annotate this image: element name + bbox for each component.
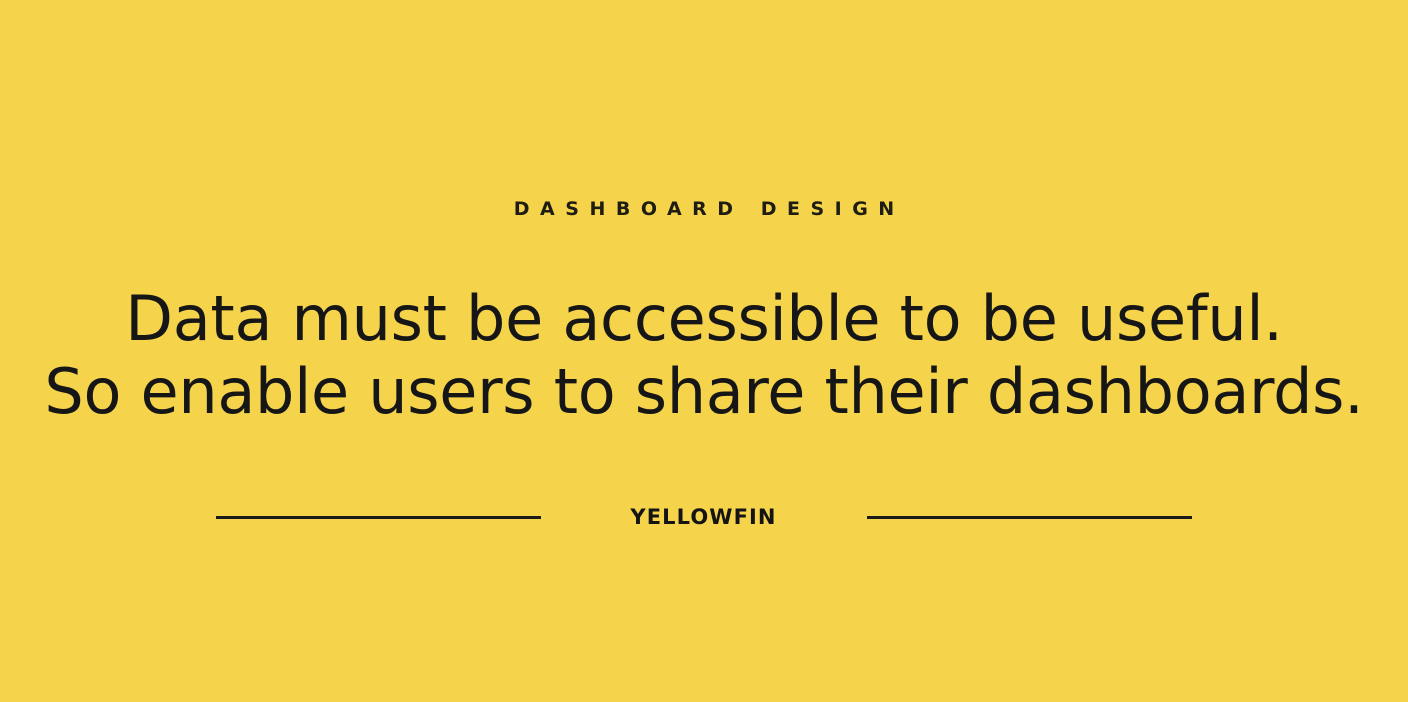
headline: Data must be accessible to be useful. So… <box>0 282 1408 428</box>
headline-line-1: Data must be accessible to be useful. <box>0 282 1408 355</box>
quote-card: DASHBOARD DESIGN Data must be accessible… <box>0 0 1408 702</box>
footer: YELLOWFIN <box>0 503 1408 531</box>
brand-wordmark: YELLOWFIN <box>630 503 776 531</box>
eyebrow-label: DASHBOARD DESIGN <box>0 197 1408 221</box>
divider-rule-right <box>867 516 1192 519</box>
divider-rule-left <box>216 516 541 519</box>
headline-line-2: So enable users to share their dashboard… <box>0 355 1408 428</box>
